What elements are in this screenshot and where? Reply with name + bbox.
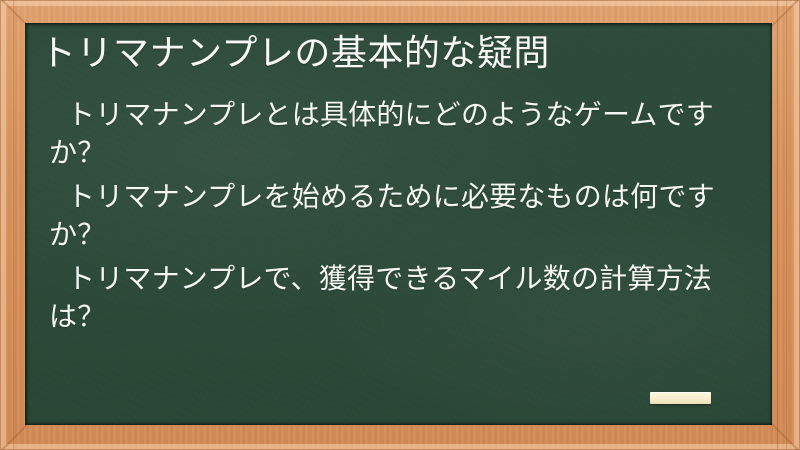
question-item: トリマナンプレを始めるために必要なものは何ですか？ bbox=[49, 178, 744, 253]
question-list: トリマナンプレとは具体的にどのようなゲームですか？ トリマナンプレを始めるために… bbox=[49, 96, 744, 342]
chalkboard-surface: トリマナンプレの基本的な疑問 トリマナンプレとは具体的にどのようなゲームですか？… bbox=[25, 23, 772, 425]
frame-grain-seam-right-inner bbox=[777, 0, 778, 450]
question-item: トリマナンプレとは具体的にどのようなゲームですか？ bbox=[49, 96, 744, 171]
frame-mitre-bottom-right bbox=[770, 422, 800, 450]
frame-grain-seam-left bbox=[13, 0, 14, 450]
question-item: トリマナンプレで、獲得できるマイル数の計算方法は？ bbox=[49, 260, 744, 335]
frame-grain-seam-right bbox=[786, 0, 787, 450]
frame-mitre-top-right bbox=[770, 0, 800, 28]
chalk-stick-icon bbox=[650, 392, 711, 404]
frame-mitre-bottom-left bbox=[0, 422, 30, 450]
slide-title: トリマナンプレの基本的な疑問 bbox=[40, 30, 550, 75]
chalkboard-slide: トリマナンプレの基本的な疑問 トリマナンプレとは具体的にどのようなゲームですか？… bbox=[0, 0, 800, 450]
